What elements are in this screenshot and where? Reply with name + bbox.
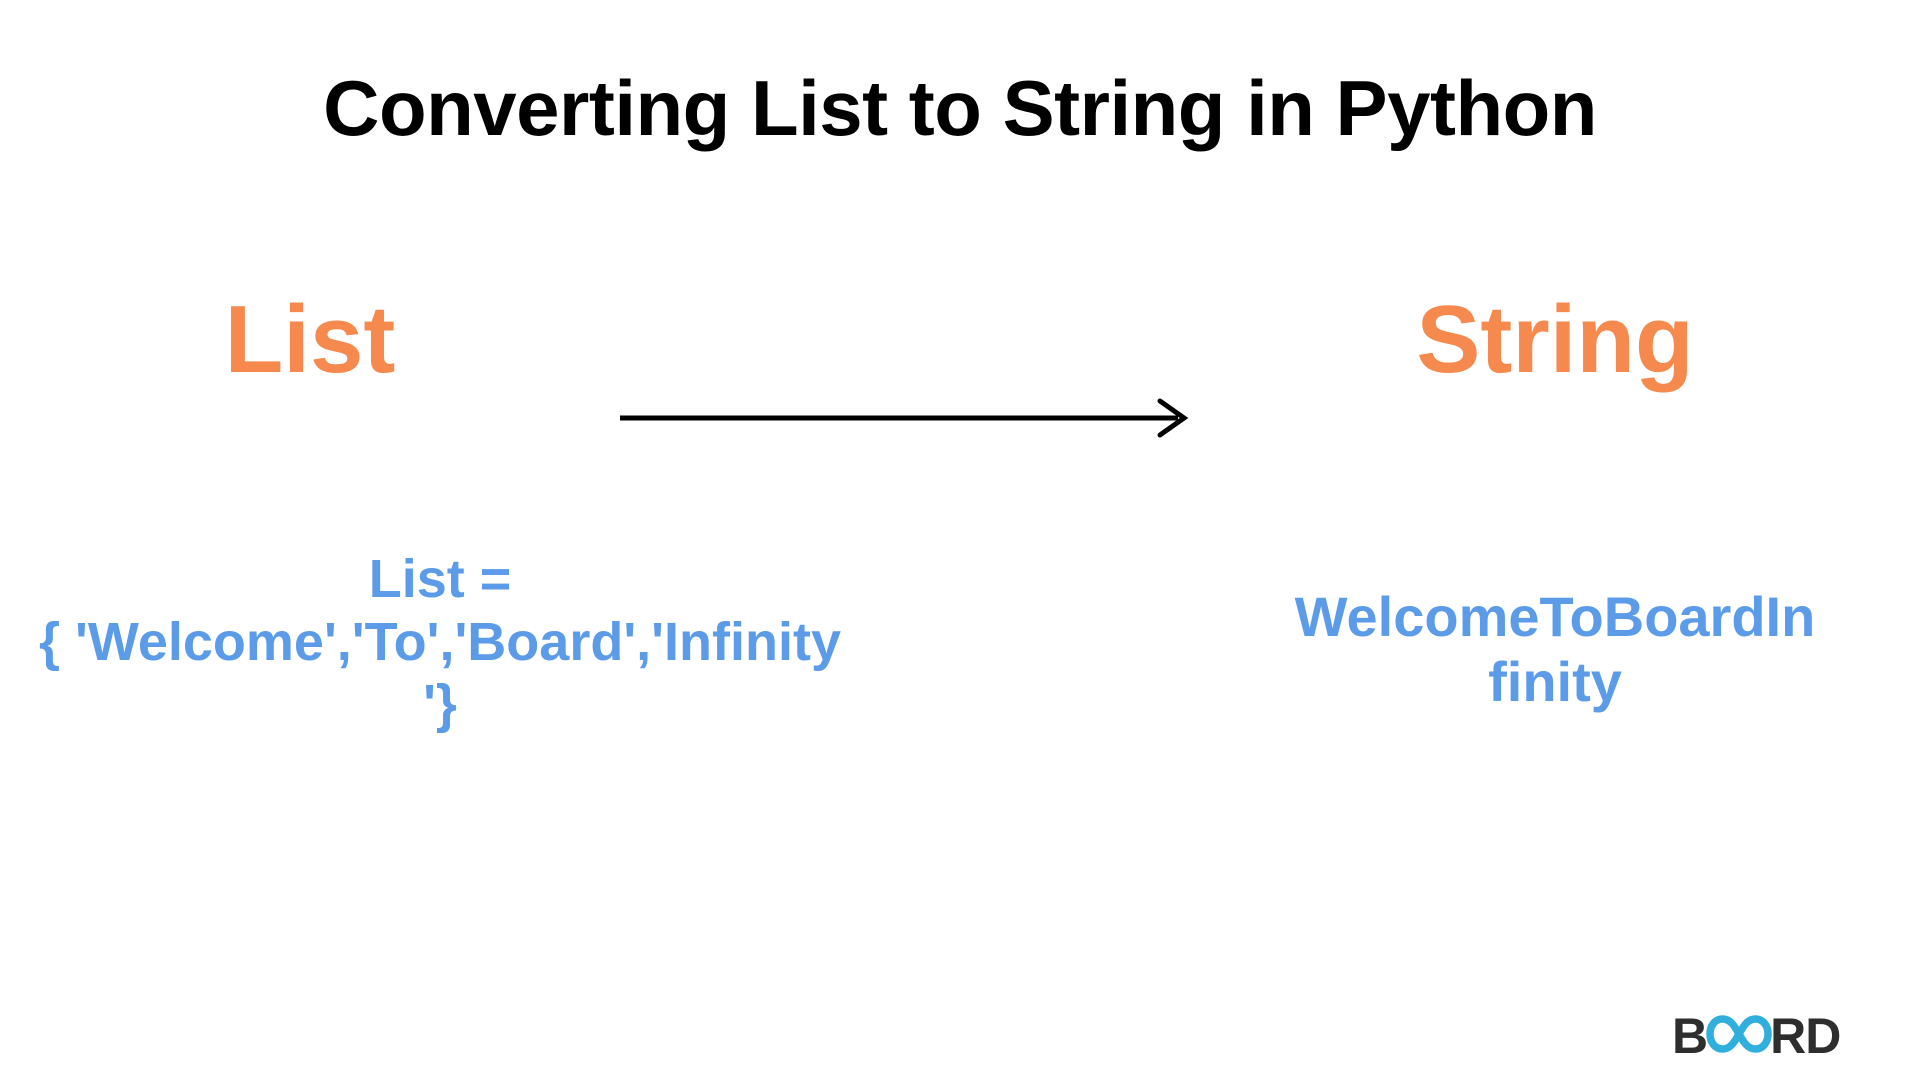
infinity-icon xyxy=(1706,1013,1772,1060)
right-arrow-icon xyxy=(618,388,1198,448)
infinity-svg xyxy=(1706,1013,1772,1055)
infinity-path xyxy=(1710,1019,1768,1049)
right-arrow-svg xyxy=(618,388,1198,448)
page-title: Converting List to String in Python xyxy=(0,68,1920,150)
target-type-label: String xyxy=(1290,292,1820,388)
logo-suffix: RD xyxy=(1770,1011,1840,1061)
board-infinity-logo: B RD xyxy=(1672,1008,1887,1064)
target-code-line-2: finity xyxy=(1165,650,1920,715)
target-code-block: WelcomeToBoardIn finity xyxy=(1165,585,1920,715)
source-code-line-1: List = xyxy=(0,548,890,611)
source-code-line-3: '} xyxy=(0,673,890,736)
source-type-label: List xyxy=(0,292,620,388)
slide-canvas: Converting List to String in Python List… xyxy=(0,0,1920,1080)
logo-prefix: B xyxy=(1672,1011,1707,1061)
target-code-line-1: WelcomeToBoardIn xyxy=(1165,585,1920,650)
source-code-line-2: { 'Welcome','To','Board','Infinity xyxy=(0,611,890,674)
source-code-block: List = { 'Welcome','To','Board','Infinit… xyxy=(0,548,890,736)
